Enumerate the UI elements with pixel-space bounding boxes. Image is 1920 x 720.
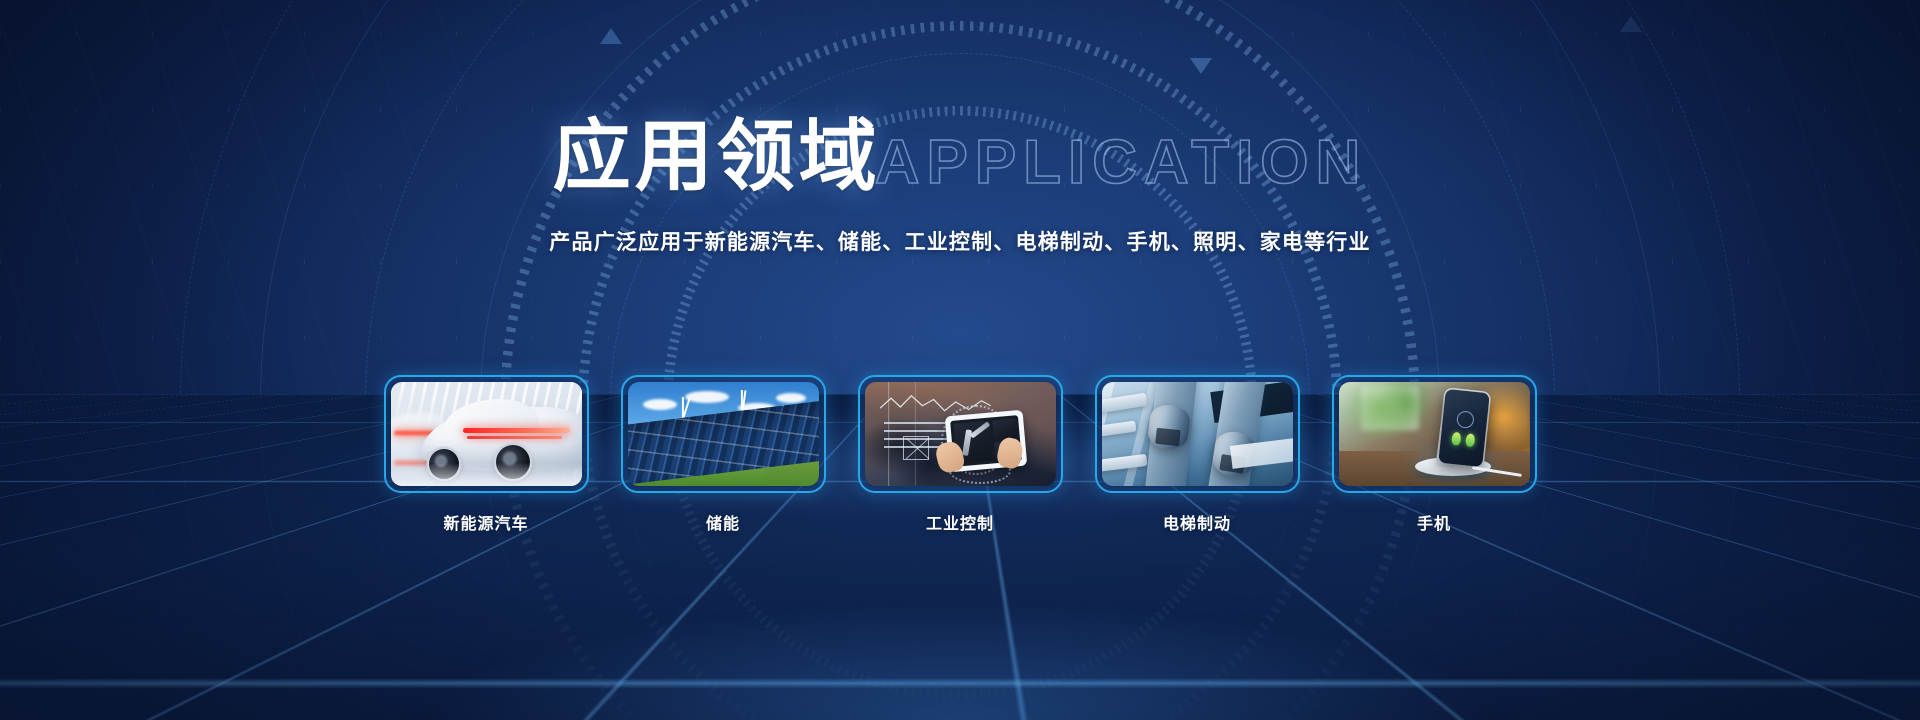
card-frame	[858, 375, 1063, 493]
application-card-elevator-brake[interactable]: 电梯制动	[1095, 375, 1300, 534]
electric-sports-car-photo	[391, 382, 582, 486]
smartphone-wireless-charger-photo	[1339, 382, 1530, 486]
page-title-en: APPLICATION	[875, 132, 1368, 194]
application-card-list: 新能源汽车	[0, 375, 1920, 534]
banner-subtitle: 产品广泛应用于新能源汽车、储能、工业控制、电梯制动、手机、照明、家电等行业	[0, 226, 1920, 256]
solar-panels-wind-turbines-photo	[628, 382, 819, 486]
application-card-energy-storage[interactable]: 储能	[621, 375, 826, 534]
banner-heading: 应用领域 APPLICATION	[0, 118, 1920, 196]
card-label: 手机	[1332, 510, 1537, 534]
application-card-industrial-control[interactable]: 工业控制	[858, 375, 1063, 534]
application-card-mobile-phone[interactable]: 手机	[1332, 375, 1537, 534]
card-frame	[1095, 375, 1300, 493]
card-label: 储能	[621, 510, 826, 534]
glass-elevators-atrium-photo	[1102, 382, 1293, 486]
banner-content: 应用领域 APPLICATION 产品广泛应用于新能源汽车、储能、工业控制、电梯…	[0, 0, 1920, 720]
application-banner: 应用领域 APPLICATION 产品广泛应用于新能源汽车、储能、工业控制、电梯…	[0, 0, 1920, 720]
page-title-cn: 应用领域	[553, 118, 881, 196]
card-label: 工业控制	[858, 510, 1063, 534]
card-label: 新能源汽车	[384, 510, 589, 534]
card-frame	[1332, 375, 1537, 493]
card-frame	[384, 375, 589, 493]
application-card-ev[interactable]: 新能源汽车	[384, 375, 589, 534]
tablet-robotic-arm-industrial-photo	[865, 382, 1056, 486]
card-frame	[621, 375, 826, 493]
card-label: 电梯制动	[1095, 510, 1300, 534]
